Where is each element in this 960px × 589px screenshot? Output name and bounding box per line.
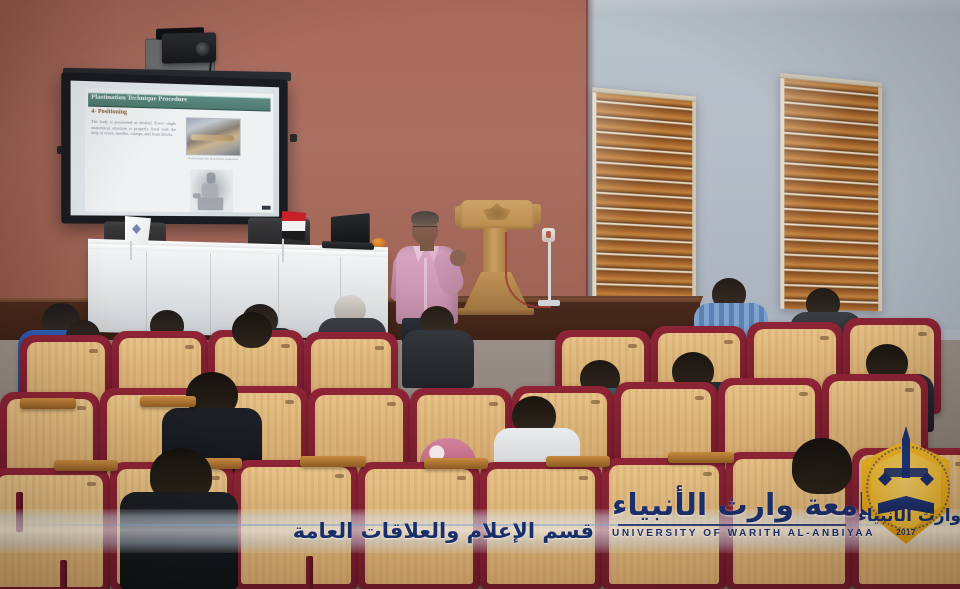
window-right xyxy=(780,73,882,311)
attendee-head xyxy=(232,312,272,348)
ceiling-strip xyxy=(588,0,960,16)
seat-armrest xyxy=(54,460,118,471)
attendee-torso xyxy=(402,330,474,388)
university-wordmark: جامعة وارث الأنبياء UNIVERSITY OF WARITH… xyxy=(612,488,852,550)
seat-armrest xyxy=(668,452,734,463)
slide-figure-caption: Positioning with plastination equipment xyxy=(188,156,239,161)
diagram-top xyxy=(207,172,216,183)
emblem-year: 2017 xyxy=(858,528,954,537)
window-glare-2 xyxy=(780,73,882,311)
screen-mount-right xyxy=(290,134,297,142)
wordmark-rule xyxy=(618,524,846,526)
podium-foot xyxy=(458,308,534,315)
slide-section-heading: 4- Positioning xyxy=(91,109,127,116)
microphone-base xyxy=(538,300,560,306)
seat-leg xyxy=(60,560,67,589)
presentation-slide: Plastination Technique Procedure 4- Posi… xyxy=(71,81,280,217)
cloth-fold xyxy=(278,255,279,337)
seat-armrest xyxy=(424,458,488,469)
podium-column xyxy=(483,228,507,274)
wordmark-english: UNIVERSITY OF WARITH AL-ANBIYAA xyxy=(612,528,852,539)
watermark-arabic-caption: قسم الإعلام والعلاقات العامة xyxy=(293,519,594,543)
emblem-arabic-text: وارث الأنبياء xyxy=(858,506,954,526)
university-flag xyxy=(125,216,151,244)
diagram-mid xyxy=(202,183,219,198)
microphone-icon xyxy=(542,228,555,242)
wordmark-arabic: جامعة وارث الأنبياء xyxy=(612,488,852,523)
microphone-stand xyxy=(548,236,551,304)
podium-top xyxy=(460,200,534,230)
slide-canvas: Plastination Technique Procedure 4- Posi… xyxy=(85,88,273,213)
slide-specimen-photo xyxy=(186,117,241,156)
window-glare xyxy=(592,87,696,313)
emblem-crossbar xyxy=(884,468,928,477)
seat-armrest xyxy=(20,398,76,409)
seat-armrest xyxy=(300,456,366,467)
university-emblem-icon: وارث الأنبياء 2017 xyxy=(858,424,954,550)
slide-corner-mark xyxy=(262,206,271,210)
projector-lens-icon xyxy=(196,42,210,56)
iraq-flag xyxy=(282,211,306,241)
table-object xyxy=(372,238,386,247)
diagram-arm xyxy=(193,193,201,198)
seat-armrest xyxy=(546,456,610,467)
window-left xyxy=(592,87,696,313)
presenter-hair xyxy=(411,211,439,225)
diagram-base xyxy=(198,197,223,210)
cloth-fold xyxy=(210,253,211,335)
slide-body-text: The body is positioned as desired. Every… xyxy=(91,119,176,138)
attendee-head xyxy=(792,438,852,494)
lecture-hall-photo: Plastination Technique Procedure 4- Posi… xyxy=(0,0,960,589)
projection-screen: Plastination Technique Procedure 4- Posi… xyxy=(61,72,287,224)
glasses-icon xyxy=(413,226,437,231)
seat-leg xyxy=(306,556,313,589)
cloth-fold xyxy=(146,251,147,333)
seat-armrest xyxy=(140,396,196,407)
slide-equipment-diagram xyxy=(190,169,233,213)
